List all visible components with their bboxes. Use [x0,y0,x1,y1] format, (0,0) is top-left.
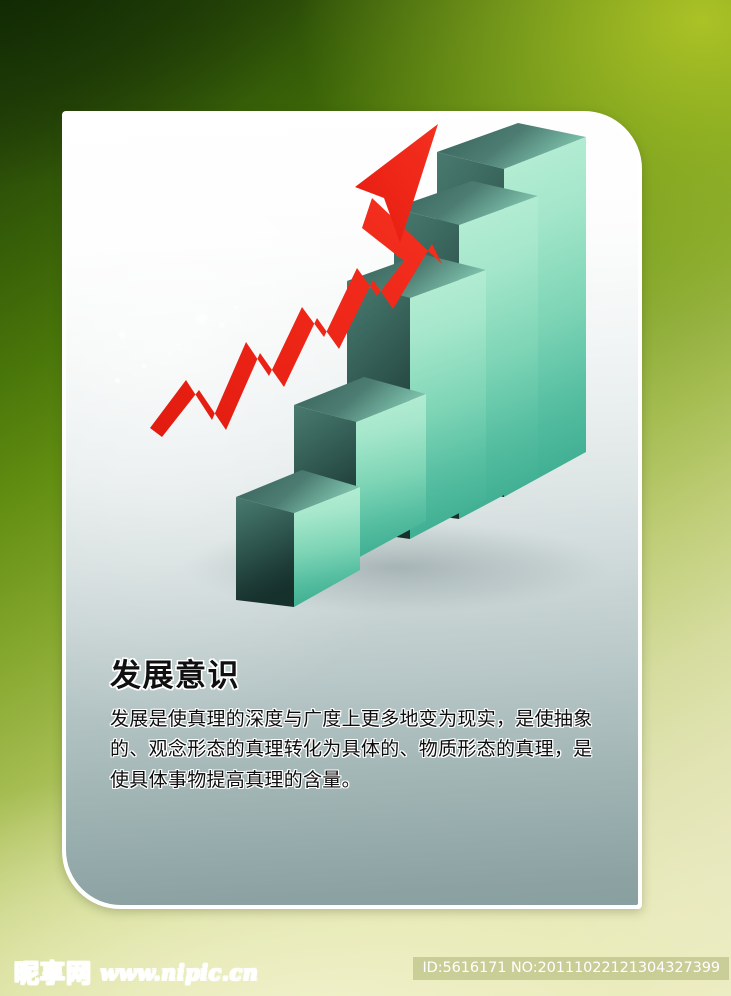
site-logo-url: www.nipic.cn [100,960,258,985]
content-card: 发展意识 发展是使真理的深度与广度上更多地变为现实，是使抽象的、观念形态的真理转… [66,115,638,905]
body-paragraph: 发展是使真理的深度与广度上更多地变为现实，是使抽象的、观念形态的真理转化为具体的… [110,704,602,796]
growth-chart-illustration [66,115,638,675]
bar-1-front [236,497,294,607]
image-id-badge: ID:5616171 NO:20111022121304327399 [413,957,729,980]
site-logo: 昵享网 www.nipic.cn [14,954,258,990]
page-title: 发展意识 [110,658,602,695]
footer-watermark-bar: 昵享网 www.nipic.cn ID:5616171 NO:201110221… [0,950,731,996]
poster-canvas: 发展意识 发展是使真理的深度与广度上更多地变为现实，是使抽象的、观念形态的真理转… [0,0,731,996]
text-block: 发展意识 发展是使真理的深度与广度上更多地变为现实，是使抽象的、观念形态的真理转… [110,658,602,796]
site-logo-cjk: 昵享网 [14,954,92,990]
